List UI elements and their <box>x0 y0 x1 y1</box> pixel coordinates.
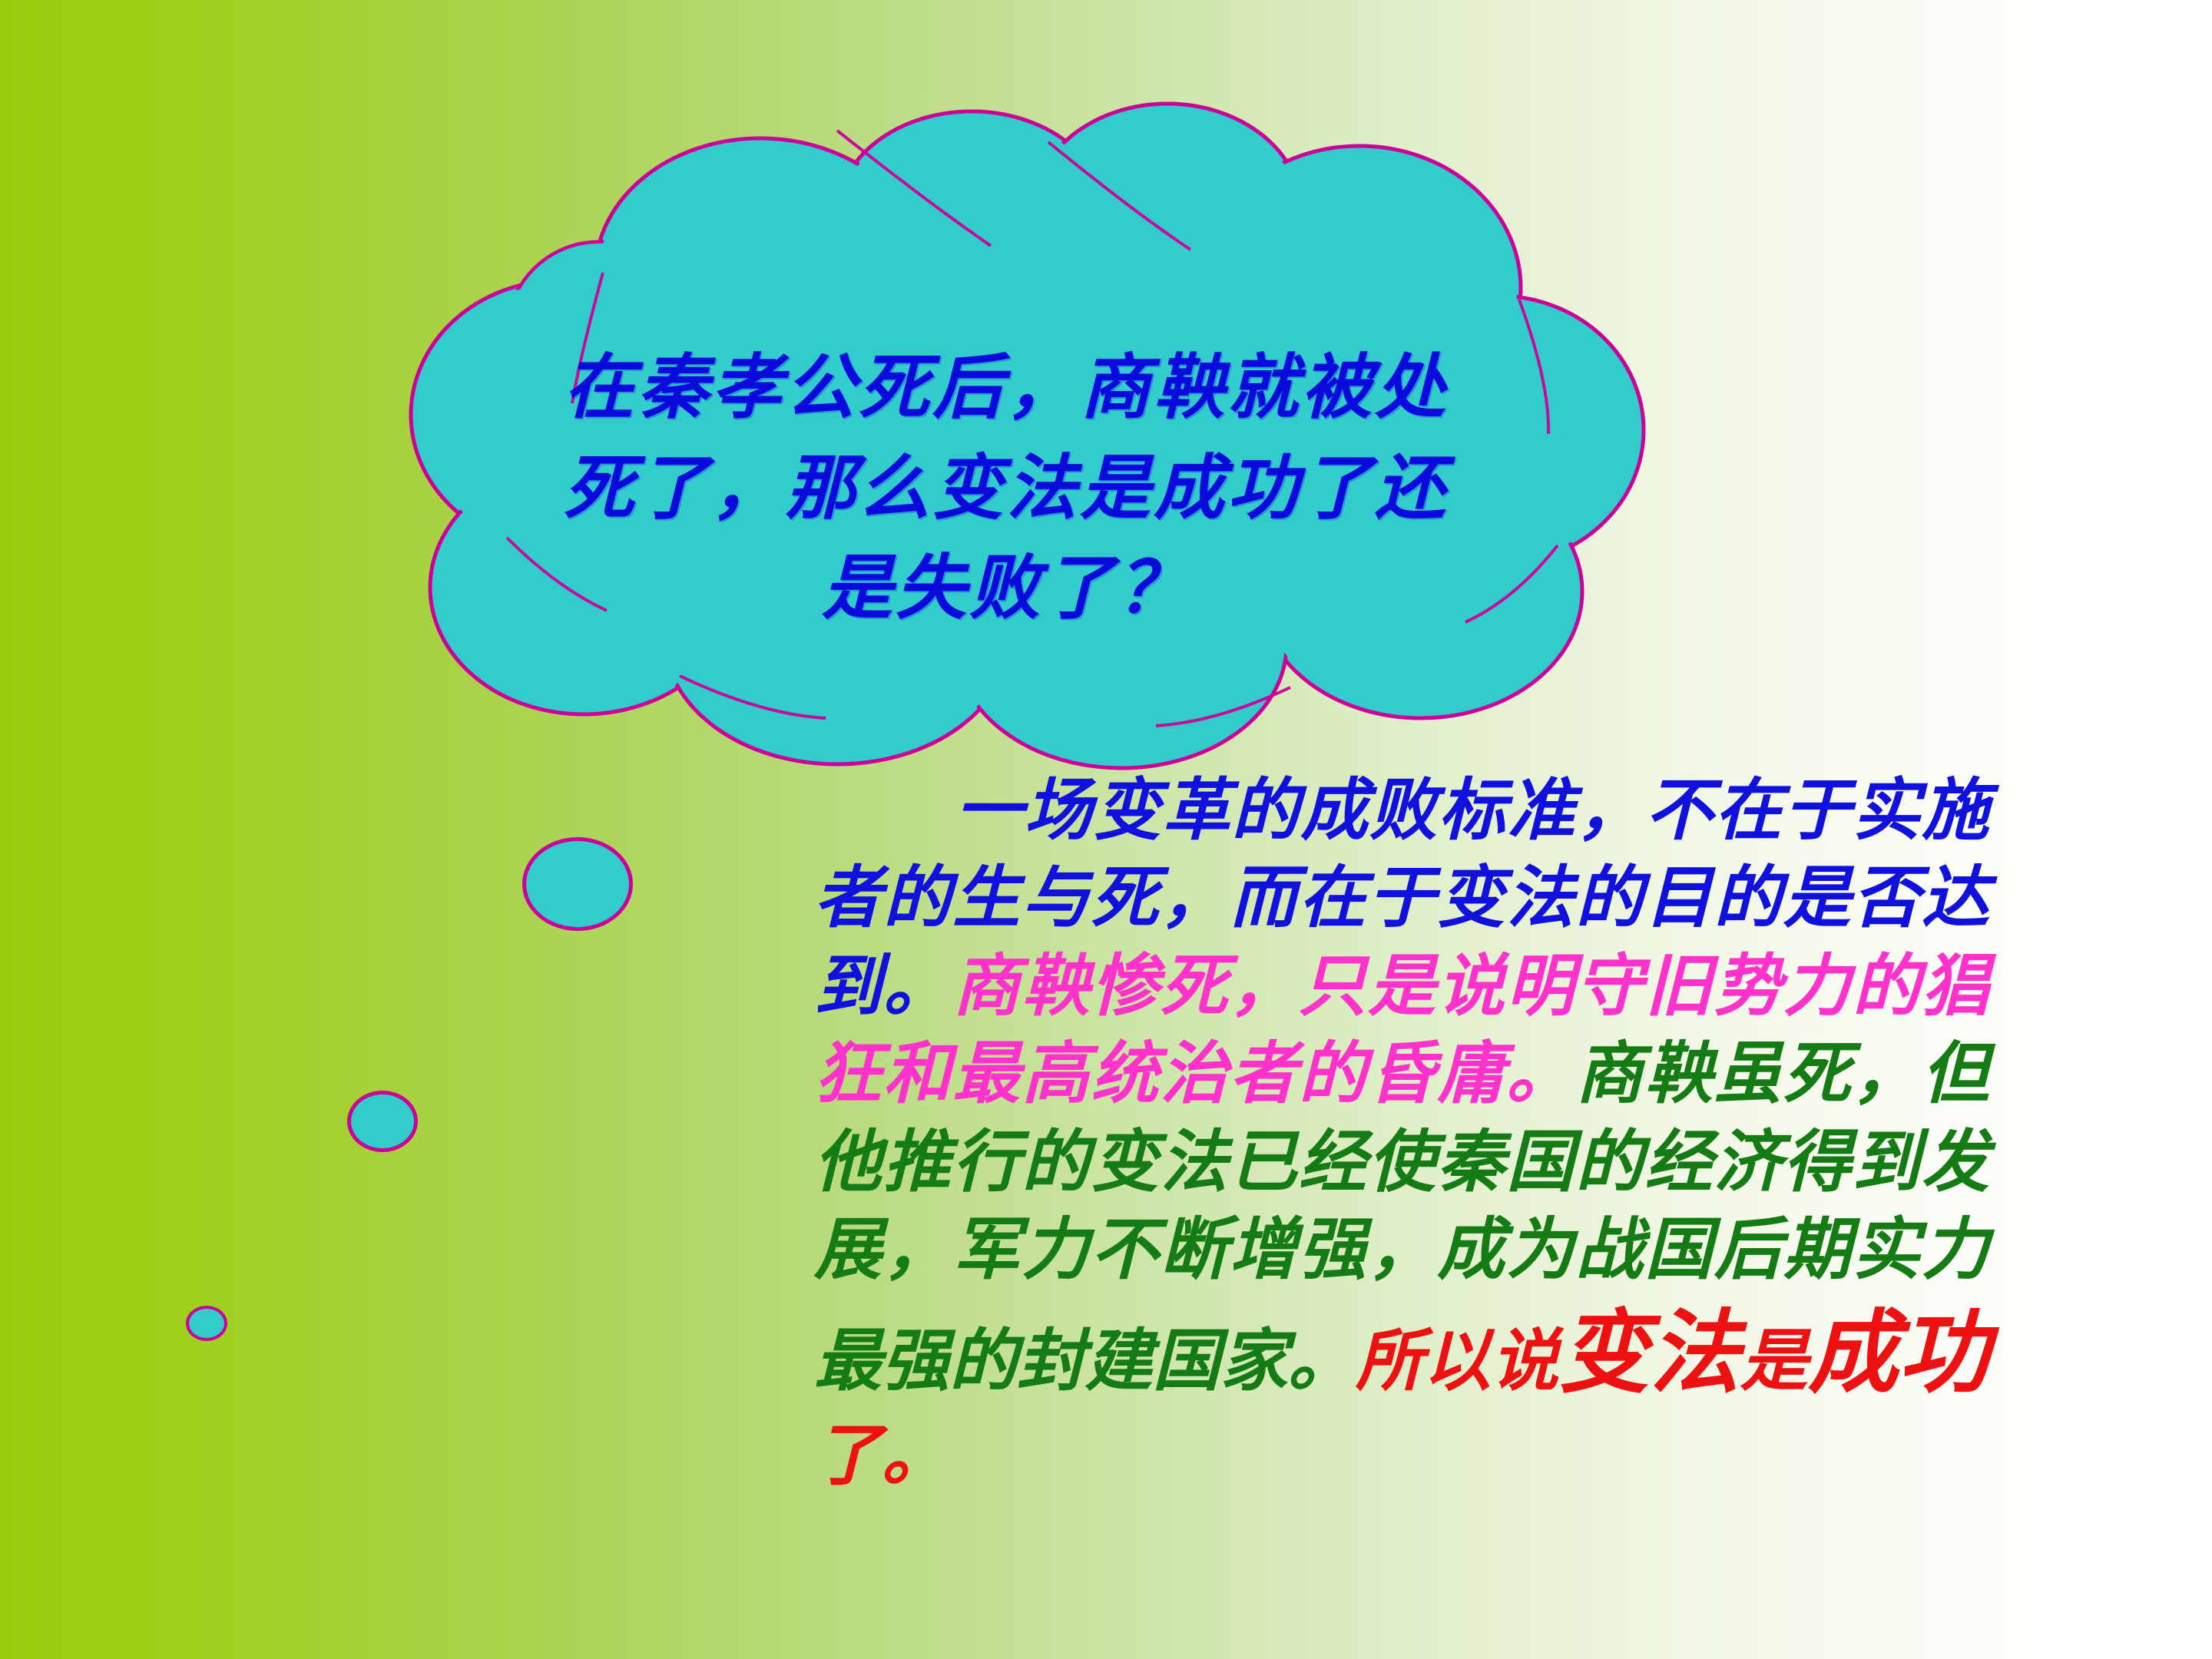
body-segment-red-emphasis-bianfa: 变法 <box>1558 1303 1740 1404</box>
slide-canvas: 在秦孝公死后，商鞅就被处 死了，那么变法是成功了还 是失败了？ 一场变革的成败标… <box>0 0 2212 1659</box>
body-segment-red-emphasis-chenggong: 成功 <box>1808 1303 1989 1404</box>
cloud-callout-text: 在秦孝公死后，商鞅就被处 死了，那么变法是成功了还 是失败了？ <box>422 338 1590 639</box>
thought-bubble-medium[interactable] <box>347 1091 418 1152</box>
thought-bubble-small[interactable] <box>186 1306 227 1341</box>
body-segment-red-shi: 是 <box>1740 1325 1808 1399</box>
body-segment-red-lead: 所以说 <box>1356 1325 1558 1399</box>
body-paragraph: 一场变革的成败标准，不在于实施者的生与死，而在于变法的目的是否达到。商鞅惨死，只… <box>814 768 1989 1501</box>
body-segment-red-tail: 了。 <box>814 1419 949 1494</box>
cloud-callout-shape[interactable]: 在秦孝公死后，商鞅就被处 死了，那么变法是成功了还 是失败了？ <box>330 108 1682 722</box>
thought-bubble-large[interactable] <box>522 837 633 931</box>
